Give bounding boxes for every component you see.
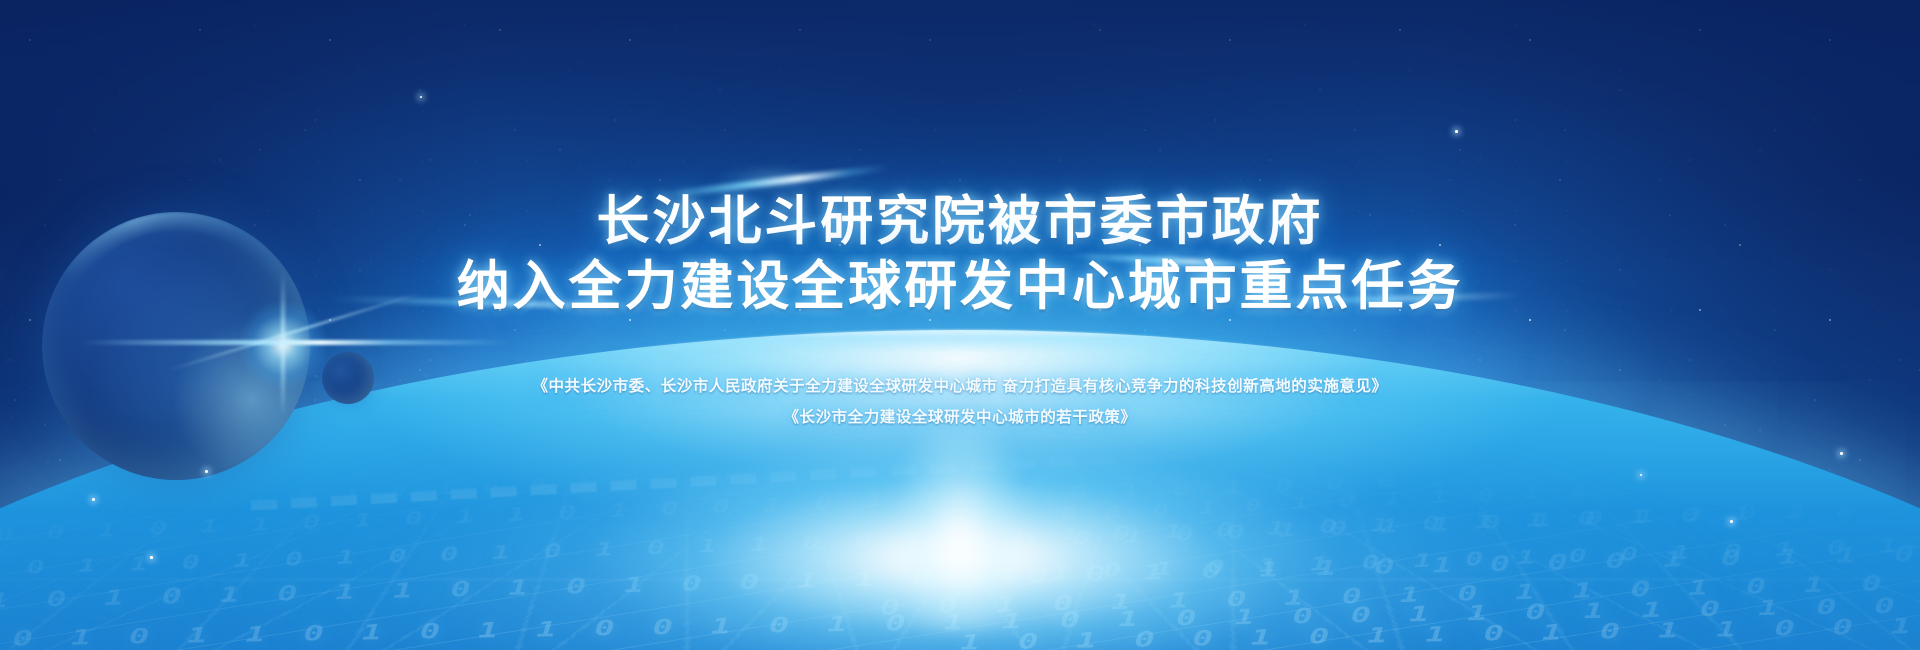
banner-content: 长沙北斗研究院被市委市政府 纳入全力建设全球研发中心城市重点任务 《中共长沙市委…	[0, 0, 1920, 650]
headline-line-1: 长沙北斗研究院被市委市政府	[457, 192, 1463, 251]
subtitle-line-2: 《长沙市全力建设全球研发中心城市的若干政策》	[532, 407, 1387, 429]
subtitle-line-1: 《中共长沙市委、长沙市人民政府关于全力建设全球研发中心城市 奋力打造具有核心竞争…	[532, 376, 1387, 398]
subtitle-group: 《中共长沙市委、长沙市人民政府关于全力建设全球研发中心城市 奋力打造具有核心竞争…	[532, 376, 1387, 429]
page-title: 长沙北斗研究院被市委市政府 纳入全力建设全球研发中心城市重点任务	[457, 192, 1463, 317]
promo-banner: 0 1 0 1 1 0 1 0 0 1 0 1 0 1 1 0 1 0 1 0 …	[0, 0, 1920, 650]
headline-line-2: 纳入全力建设全球研发中心城市重点任务	[457, 257, 1463, 316]
